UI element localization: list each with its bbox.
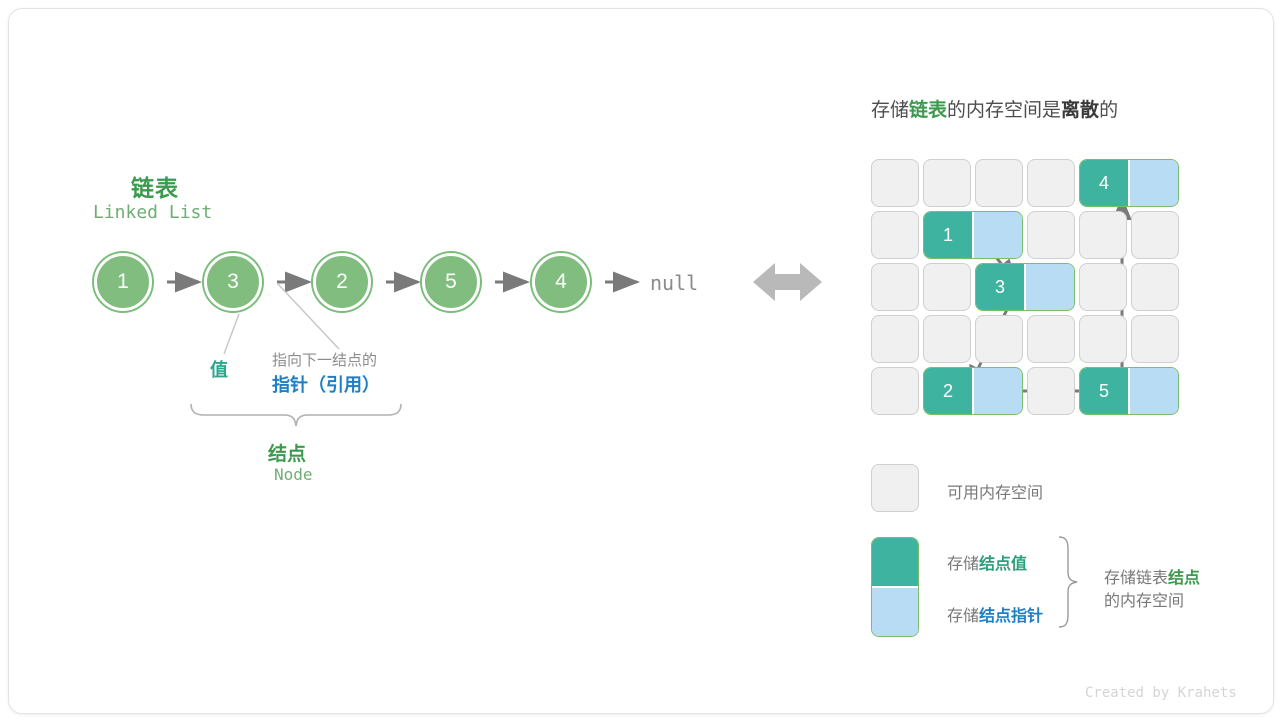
- memory-heading-highlight-discrete: 离散: [1061, 100, 1099, 121]
- memory-heading-part3: 的: [1099, 100, 1118, 121]
- legend-group-prefix: 存储链表: [1104, 570, 1168, 587]
- memory-node-value: 5: [1080, 368, 1128, 414]
- equivalence-double-arrow: [753, 263, 822, 301]
- diagram-card: 链表 Linked List 1 3 2 5 4 null 值 指向下一结点的 …: [8, 8, 1274, 714]
- memory-cell-free[interactable]: [1079, 315, 1127, 363]
- page-title-cn: 链表: [131, 169, 179, 203]
- memory-node-2[interactable]: 2: [923, 367, 1023, 415]
- legend-group-strong: 结点: [1168, 570, 1200, 587]
- memory-cell-free[interactable]: [1027, 211, 1075, 259]
- node-annotation-en: Node: [274, 465, 313, 484]
- memory-cell-free[interactable]: [975, 315, 1023, 363]
- memory-node-pointer: [974, 212, 1022, 258]
- memory-cell-free[interactable]: [871, 263, 919, 311]
- memory-cell-free[interactable]: [871, 159, 919, 207]
- watermark-credit: Created by Krahets: [1085, 685, 1237, 701]
- list-node-5[interactable]: 4: [532, 253, 590, 311]
- memory-heading-part2: 的内存空间是: [947, 100, 1061, 121]
- list-node-3[interactable]: 2: [313, 253, 371, 311]
- memory-grid: 4 1 3 2: [871, 159, 1183, 422]
- memory-node-5[interactable]: 5: [1079, 367, 1179, 415]
- legend-brace: [1059, 537, 1077, 627]
- page-title-en: Linked List: [93, 202, 212, 223]
- node-brace: [191, 404, 401, 426]
- memory-cell-free[interactable]: [975, 159, 1023, 207]
- memory-cell-free[interactable]: [923, 159, 971, 207]
- legend-swatch-node: [871, 537, 919, 637]
- memory-cell-free[interactable]: [1027, 315, 1075, 363]
- legend-label-value: 存储结点值: [947, 550, 1027, 574]
- memory-node-pointer: [1026, 264, 1074, 310]
- value-leader-line: [224, 314, 239, 354]
- pointer-annotation-line2: 指针（引用）: [272, 371, 380, 397]
- memory-heading-highlight-linkedlist: 链表: [909, 100, 947, 121]
- memory-node-pointer: [1130, 368, 1178, 414]
- list-node-1[interactable]: 1: [94, 253, 152, 311]
- memory-cell-free[interactable]: [871, 211, 919, 259]
- memory-heading: 存储链表的内存空间是离散的: [871, 95, 1118, 122]
- memory-cell-free[interactable]: [871, 315, 919, 363]
- memory-heading-part1: 存储: [871, 100, 909, 121]
- memory-node-value: 1: [924, 212, 972, 258]
- pointer-annotation-line1: 指向下一结点的: [272, 349, 377, 370]
- memory-node-pointer: [1130, 160, 1178, 206]
- memory-node-1[interactable]: 1: [923, 211, 1023, 259]
- legend-label-free: 可用内存空间: [947, 479, 1043, 503]
- memory-cell-free[interactable]: [1027, 367, 1075, 415]
- memory-cell-free[interactable]: [923, 315, 971, 363]
- list-node-2[interactable]: 3: [204, 253, 262, 311]
- legend-swatch-free: [871, 464, 919, 512]
- legend-pointer-strong: 结点指针: [979, 608, 1043, 625]
- memory-cell-free[interactable]: [871, 367, 919, 415]
- null-terminator-label: null: [650, 271, 698, 295]
- memory-node-value: 4: [1080, 160, 1128, 206]
- memory-cell-free[interactable]: [1131, 263, 1179, 311]
- memory-cell-free[interactable]: [1131, 211, 1179, 259]
- list-node-4[interactable]: 5: [422, 253, 480, 311]
- value-annotation-label: 值: [210, 356, 228, 382]
- legend-pointer-prefix: 存储: [947, 608, 979, 625]
- memory-node-value: 3: [976, 264, 1024, 310]
- memory-node-4[interactable]: 4: [1079, 159, 1179, 207]
- legend-value-strong: 结点值: [979, 556, 1027, 573]
- memory-cell-free[interactable]: [1079, 211, 1127, 259]
- node-annotation-cn: 结点: [268, 439, 306, 466]
- legend-group-line1: 存储链表结点: [1104, 564, 1200, 588]
- legend-label-pointer: 存储结点指针: [947, 602, 1043, 626]
- memory-cell-free[interactable]: [923, 263, 971, 311]
- memory-node-3[interactable]: 3: [975, 263, 1075, 311]
- legend-swatch-pointer: [872, 588, 918, 636]
- legend-swatch-value: [872, 538, 918, 586]
- memory-node-value: 2: [924, 368, 972, 414]
- memory-cell-free[interactable]: [1131, 315, 1179, 363]
- memory-cell-free[interactable]: [1027, 159, 1075, 207]
- legend-group-line2: 的内存空间: [1104, 587, 1184, 611]
- legend-value-prefix: 存储: [947, 556, 979, 573]
- memory-node-pointer: [974, 368, 1022, 414]
- memory-cell-free[interactable]: [1079, 263, 1127, 311]
